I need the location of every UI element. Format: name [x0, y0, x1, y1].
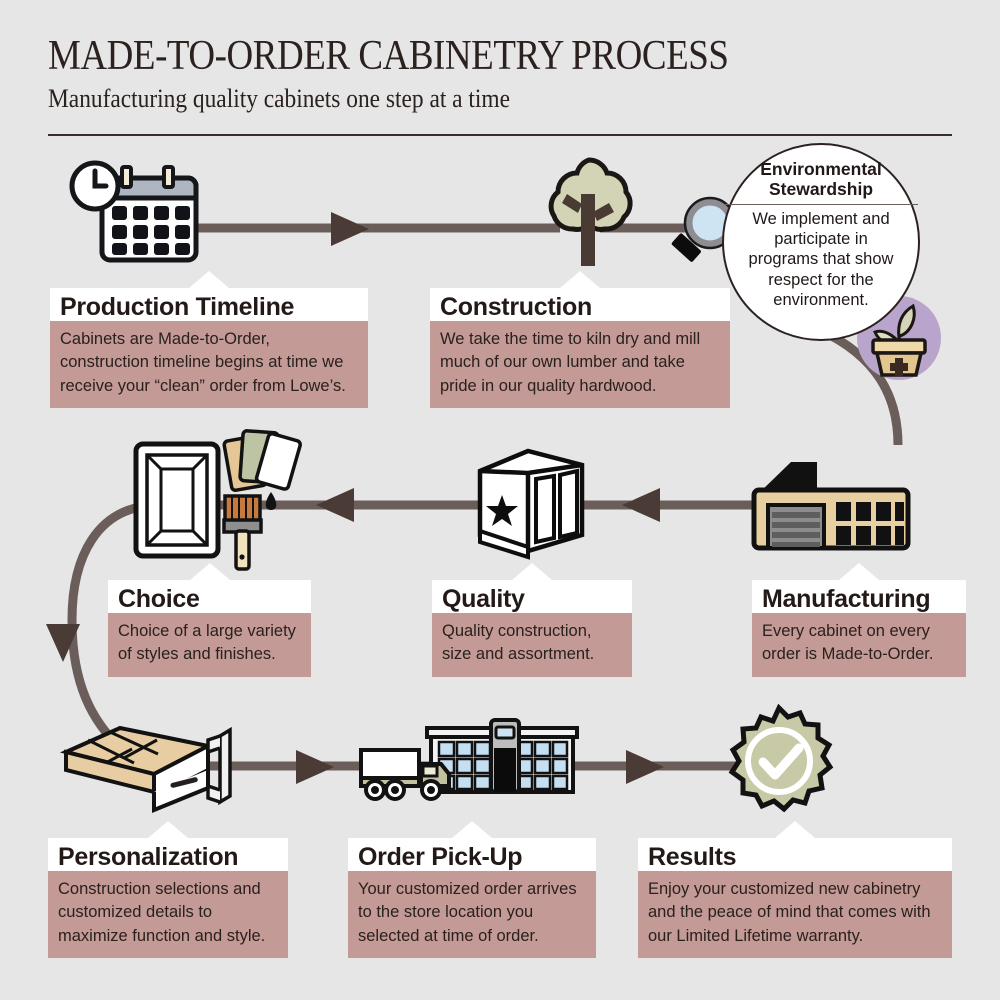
step-body: Construction selections and customized d…	[48, 871, 288, 958]
factory-icon	[746, 450, 916, 555]
step-card-results[interactable]: Results Enjoy your customized new cabine…	[638, 838, 952, 958]
step-body: We take the time to kiln dry and mill mu…	[430, 321, 730, 408]
step-card-construction[interactable]: Construction We take the time to kiln dr…	[430, 288, 730, 408]
step-card-manufacturing[interactable]: Manufacturing Every cabinet on every ord…	[752, 580, 966, 677]
check-badge-icon	[722, 704, 836, 818]
infographic-canvas: MADE-TO-ORDER CABINETRY PROCESS Manufact…	[0, 0, 1000, 1000]
door-swatches-brush-icon	[128, 424, 303, 579]
step-card-personalization[interactable]: Personalization Construction selections …	[48, 838, 288, 958]
step-body: Enjoy your customized new cabinetry and …	[638, 871, 952, 958]
step-title: Results	[638, 838, 952, 871]
step-title: Personalization	[48, 838, 288, 871]
step-body: Cabinets are Made-to-Order, construction…	[50, 321, 368, 408]
tree-icon	[527, 152, 649, 272]
truck-store-icon	[355, 712, 585, 812]
step-title: Construction	[430, 288, 730, 321]
card-notch	[452, 821, 492, 838]
card-notch	[190, 563, 230, 580]
card-notch	[512, 563, 552, 580]
callout-divider	[724, 204, 918, 205]
step-body: Your customized order arrives to the sto…	[348, 871, 596, 958]
step-card-quality[interactable]: Quality Quality construction, size and a…	[432, 580, 632, 677]
card-notch	[189, 271, 229, 288]
step-body: Choice of a large variety of styles and …	[108, 613, 311, 677]
card-notch	[560, 271, 600, 288]
card-notch	[775, 821, 815, 838]
callout-text: We implement and participate in programs…	[741, 209, 901, 310]
step-title: Quality	[432, 580, 632, 613]
step-body: Every cabinet on every order is Made-to-…	[752, 613, 966, 677]
drawer-handle-icon	[58, 718, 253, 818]
step-title: Choice	[108, 580, 311, 613]
cabinet-icon	[470, 443, 590, 561]
step-title: Production Timeline	[50, 288, 368, 321]
step-title: Manufacturing	[752, 580, 966, 613]
step-title: Order Pick-Up	[348, 838, 596, 871]
calendar-clock-icon	[60, 158, 210, 273]
step-card-choice[interactable]: Choice Choice of a large variety of styl…	[108, 580, 311, 677]
step-body: Quality construction, size and assortmen…	[432, 613, 632, 677]
environmental-stewardship-callout: Environmental Stewardship We implement a…	[722, 143, 920, 341]
callout-title: Environmental Stewardship	[746, 160, 896, 199]
step-card-production-timeline[interactable]: Production Timeline Cabinets are Made-to…	[50, 288, 368, 408]
card-notch	[148, 821, 188, 838]
step-card-order-pick-up[interactable]: Order Pick-Up Your customized order arri…	[348, 838, 596, 958]
card-notch	[839, 563, 879, 580]
